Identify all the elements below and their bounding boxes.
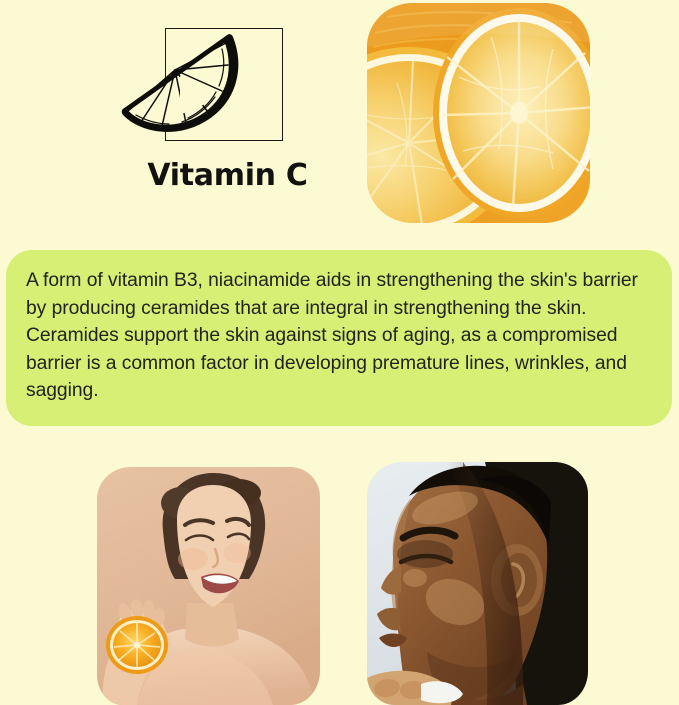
photo-woman-holding-orange xyxy=(97,467,320,705)
badge-label: Vitamin C xyxy=(120,158,335,193)
lemon-wedge-icon xyxy=(120,24,295,146)
hero-lemon-image xyxy=(367,3,590,223)
photo-man-skincare xyxy=(367,462,588,705)
info-card: A form of vitamin B3, niacinamide aids i… xyxy=(6,250,672,426)
top-section: Vitamin C xyxy=(0,0,679,240)
infographic-page: Vitamin C xyxy=(0,0,679,682)
vitamin-c-badge: Vitamin C xyxy=(120,14,335,214)
photo-gallery xyxy=(0,440,679,682)
info-card-text: A form of vitamin B3, niacinamide aids i… xyxy=(26,267,650,405)
